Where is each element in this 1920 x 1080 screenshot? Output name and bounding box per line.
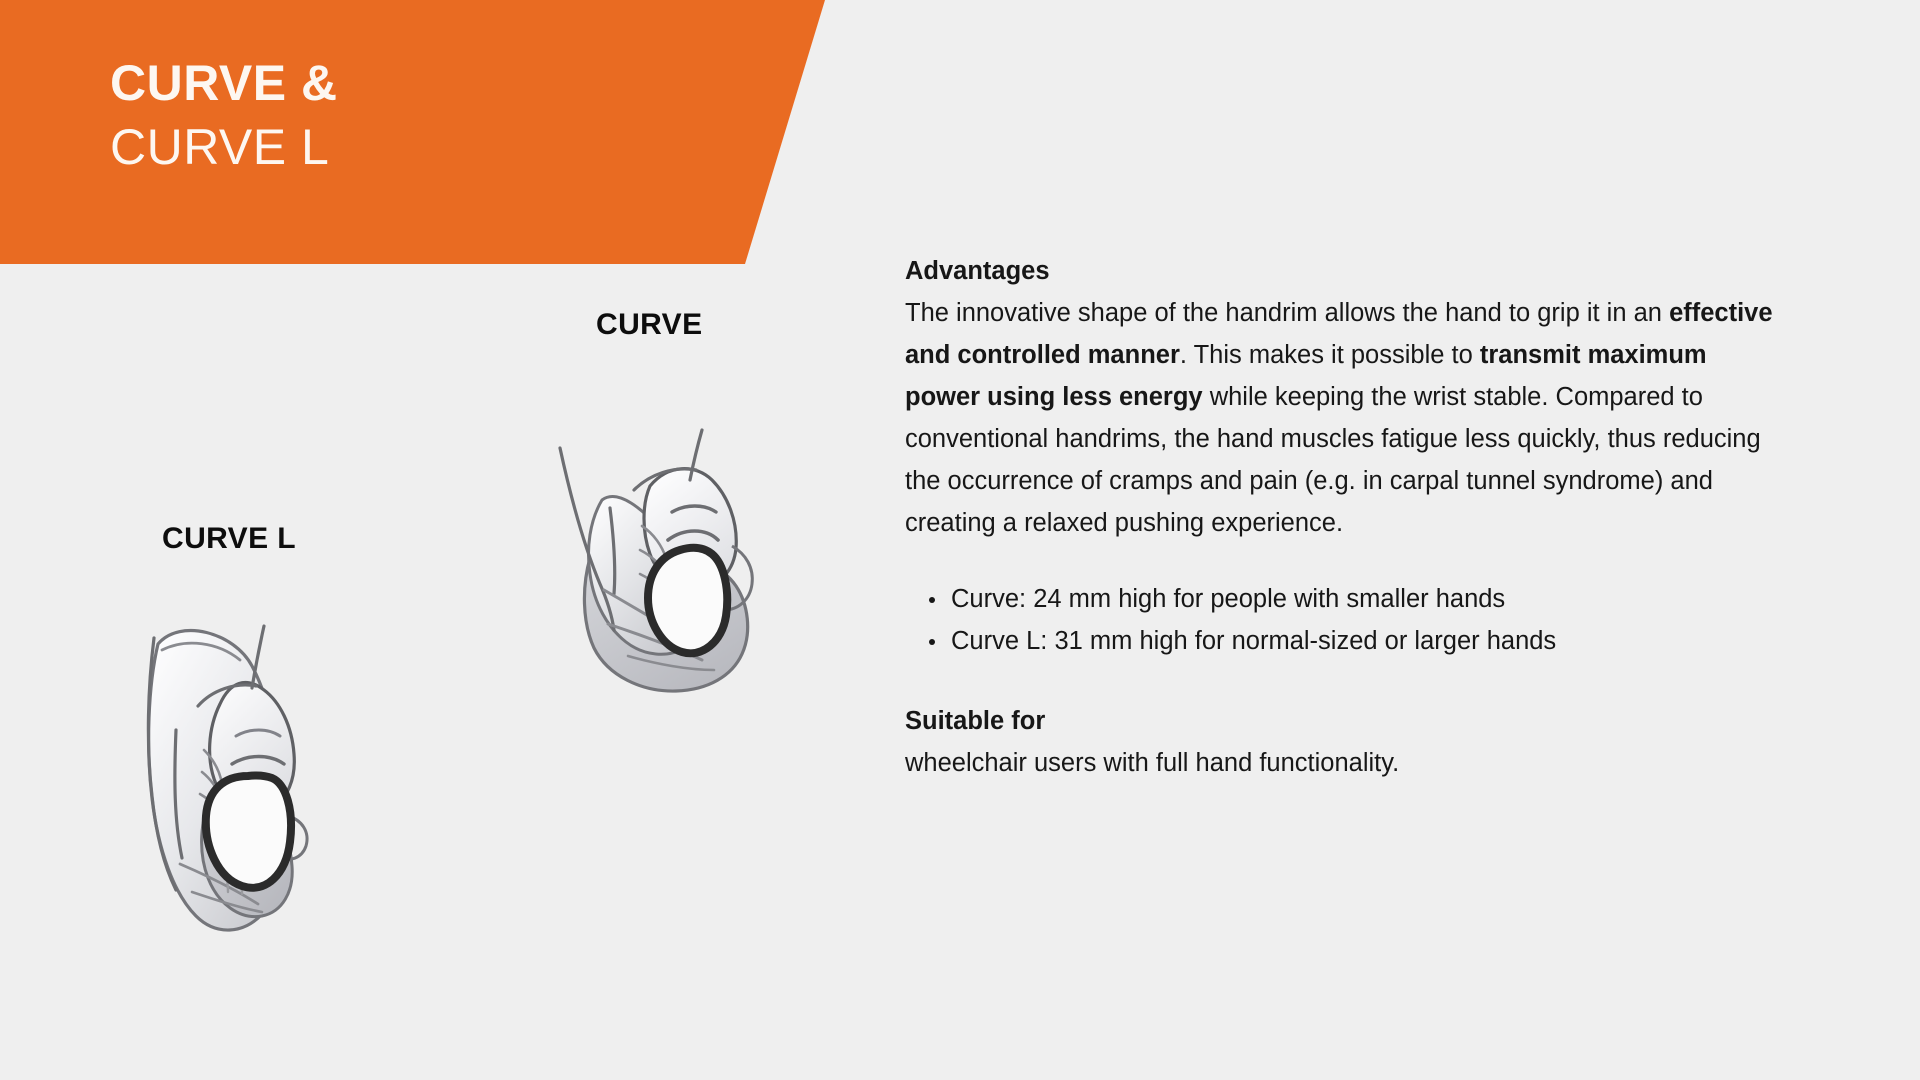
advantages-paragraph: The innovative shape of the handrim allo… [905,292,1785,544]
slide-canvas: CURVE & CURVE L CURVE [0,0,1920,1080]
advantages-text-1: The innovative shape of the handrim allo… [905,299,1669,327]
advantages-text-2: . This makes it possible to [1180,341,1480,369]
orange-banner: CURVE & CURVE L [0,0,840,264]
suitable-for-text: wheelchair users with full hand function… [905,742,1805,784]
advantages-heading: Advantages [905,250,1805,292]
list-item: Curve: 24 mm high for people with smalle… [951,578,1805,620]
product-label-curve-l: CURVE L [162,522,296,556]
product-label-curve: CURVE [596,308,702,342]
hand-gripping-handrim-icon-curve-l [140,608,355,938]
suitable-for-heading: Suitable for [905,700,1805,742]
banner-title-line-2: CURVE L [110,122,338,172]
size-bullet-list: Curve: 24 mm high for people with smalle… [905,578,1805,662]
advantages-copy-column: Advantages The innovative shape of the h… [905,250,1805,784]
list-item: Curve L: 31 mm high for normal-sized or … [951,620,1805,662]
hand-gripping-handrim-icon-curve [556,408,786,708]
banner-title-line-1: CURVE & [110,58,338,108]
banner-title: CURVE & CURVE L [110,58,338,172]
suitable-for-block: Suitable for wheelchair users with full … [905,700,1805,784]
